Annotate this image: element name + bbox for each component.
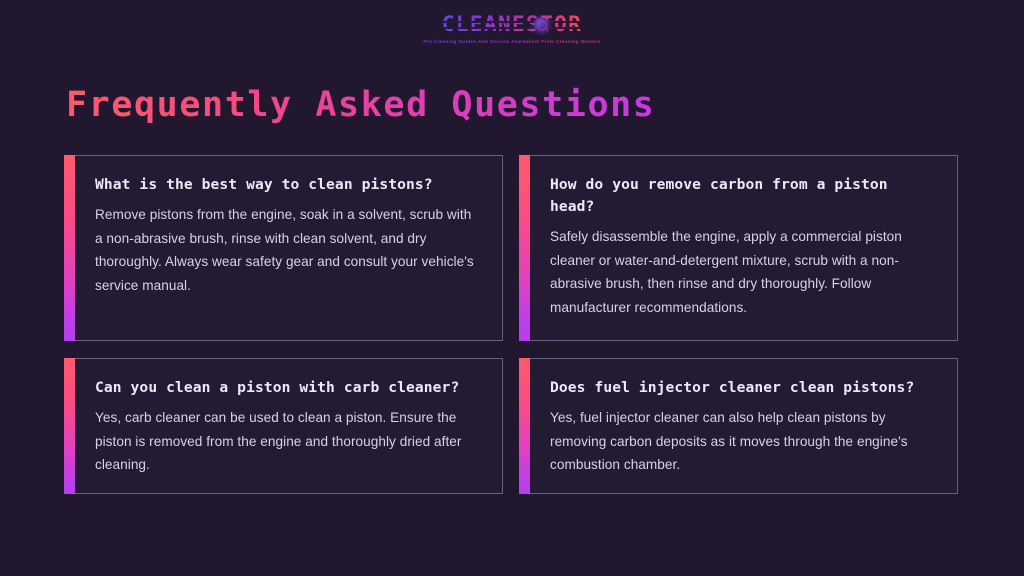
faq-card[interactable]: Does fuel injector cleaner clean pistons… bbox=[519, 358, 958, 494]
accent-bar bbox=[64, 358, 75, 494]
faq-grid: What is the best way to clean pistons? R… bbox=[64, 155, 958, 494]
faq-question: Can you clean a piston with carb cleaner… bbox=[95, 377, 482, 399]
faq-question: How do you remove carbon from a piston h… bbox=[550, 174, 937, 218]
accent-bar bbox=[519, 155, 530, 341]
faq-answer: Safely disassemble the engine, apply a c… bbox=[550, 225, 937, 319]
logo-wordmark-group: CLEANESTOR bbox=[442, 14, 582, 35]
page-title: Frequently Asked Questions bbox=[66, 86, 655, 125]
faq-answer: Remove pistons from the engine, soak in … bbox=[95, 203, 482, 297]
faq-card[interactable]: How do you remove carbon from a piston h… bbox=[519, 155, 958, 341]
faq-page: CLEANESTOR Pro Cleaning Guides And Servi… bbox=[0, 0, 1024, 576]
faq-question: What is the best way to clean pistons? bbox=[95, 174, 482, 196]
accent-bar bbox=[519, 358, 530, 494]
accent-bar bbox=[64, 155, 75, 341]
faq-card-body: Can you clean a piston with carb cleaner… bbox=[75, 358, 503, 494]
site-logo[interactable]: CLEANESTOR Pro Cleaning Guides And Servi… bbox=[0, 14, 1024, 44]
logo-wordmark: CLEANESTOR bbox=[442, 14, 582, 35]
faq-question: Does fuel injector cleaner clean pistons… bbox=[550, 377, 937, 399]
faq-card-body: Does fuel injector cleaner clean pistons… bbox=[530, 358, 958, 494]
faq-answer: Yes, carb cleaner can be used to clean a… bbox=[95, 406, 482, 477]
faq-card[interactable]: Can you clean a piston with carb cleaner… bbox=[64, 358, 503, 494]
logo-tagline: Pro Cleaning Guides And Service Journali… bbox=[423, 39, 600, 44]
ring-orb-icon bbox=[534, 17, 549, 32]
faq-card-body: What is the best way to clean pistons? R… bbox=[75, 155, 503, 341]
faq-card[interactable]: What is the best way to clean pistons? R… bbox=[64, 155, 503, 341]
faq-answer: Yes, fuel injector cleaner can also help… bbox=[550, 406, 937, 477]
faq-card-body: How do you remove carbon from a piston h… bbox=[530, 155, 958, 341]
